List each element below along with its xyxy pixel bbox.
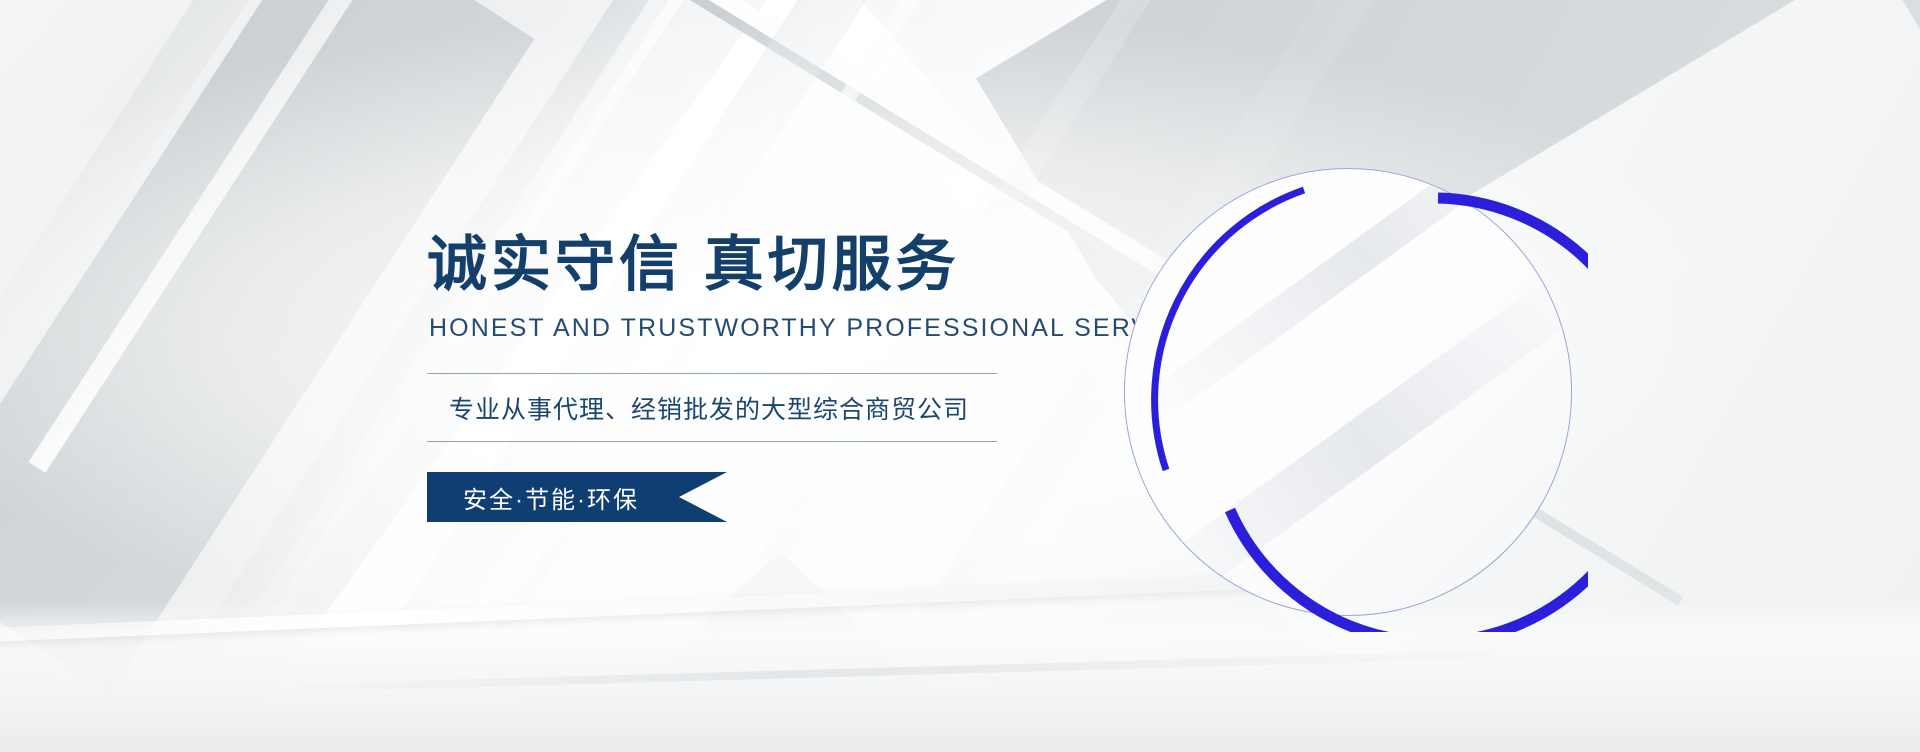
banner-subheadline: HONEST AND TRUSTWORTHY PROFESSIONAL SERV… — [429, 314, 1087, 343]
divider-top — [427, 373, 997, 374]
product-circle — [1118, 162, 1578, 622]
banner-description: 专业从事代理、经销批发的大型综合商贸公司 — [427, 374, 1087, 441]
broken-blue-ring — [1108, 152, 1588, 632]
banner-text-block: 诚实守信 真切服务 HONEST AND TRUSTWORTHY PROFESS… — [427, 232, 1087, 522]
divider-bottom — [427, 441, 997, 442]
banner-headline: 诚实守信 真切服务 — [427, 232, 1087, 298]
feature-ribbon-badge[interactable]: 安全·节能·环保 — [427, 472, 727, 522]
feature-ribbon-label: 安全·节能·环保 — [427, 480, 639, 515]
promo-banner: 诚实守信 真切服务 HONEST AND TRUSTWORTHY PROFESS… — [0, 0, 1920, 752]
